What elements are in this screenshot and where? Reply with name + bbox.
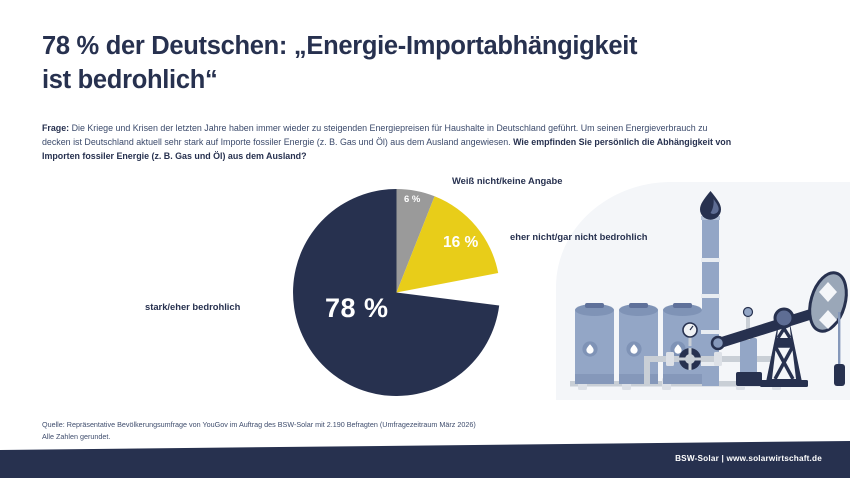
counterweight-wheel (803, 268, 850, 335)
question-label: Frage: (42, 123, 69, 133)
pie-value-eher-nicht-bedrohlich: 16 % (443, 234, 478, 252)
wellhead-unit (736, 308, 762, 387)
title-line-1: 78 % der Deutschen: „Energie-Importabhän… (42, 32, 637, 60)
pump-jack (712, 268, 850, 387)
source-line-2: Alle Zahlen gerundet. (42, 432, 110, 441)
storage-tank-2 (619, 303, 658, 384)
pie-value-stark-eher-bedrohlich: 78 % (325, 293, 389, 324)
infographic-canvas: 78 % der Deutschen: „Energie-Importabhän… (0, 0, 850, 478)
storage-tank-1 (575, 303, 614, 384)
valve (679, 348, 701, 370)
flame-icon (700, 191, 721, 220)
pie-label-weiss-nicht: Weiß nicht/keine Angabe (452, 175, 562, 186)
oil-gas-facility-illustration (566, 186, 850, 398)
footer-brand: BSW-Solar | www.solarwirtschaft.de (675, 454, 822, 463)
pie-value-weiss-nicht: 6 % (404, 194, 420, 205)
illustration-svg (566, 186, 850, 398)
pie-label-stark-eher-bedrohlich: stark/eher bedrohlich (145, 301, 240, 312)
page-title: 78 % der Deutschen: „Energie-Importabhän… (42, 30, 742, 98)
storage-tank-3 (663, 303, 702, 384)
source-note: Quelle: Repräsentative Bevölkerungsumfra… (42, 419, 602, 442)
survey-question: Frage: Die Kriege und Krisen der letzten… (42, 121, 734, 163)
source-line-1: Quelle: Repräsentative Bevölkerungsumfra… (42, 420, 476, 429)
title-line-2: ist bedrohlich“ (42, 66, 217, 94)
